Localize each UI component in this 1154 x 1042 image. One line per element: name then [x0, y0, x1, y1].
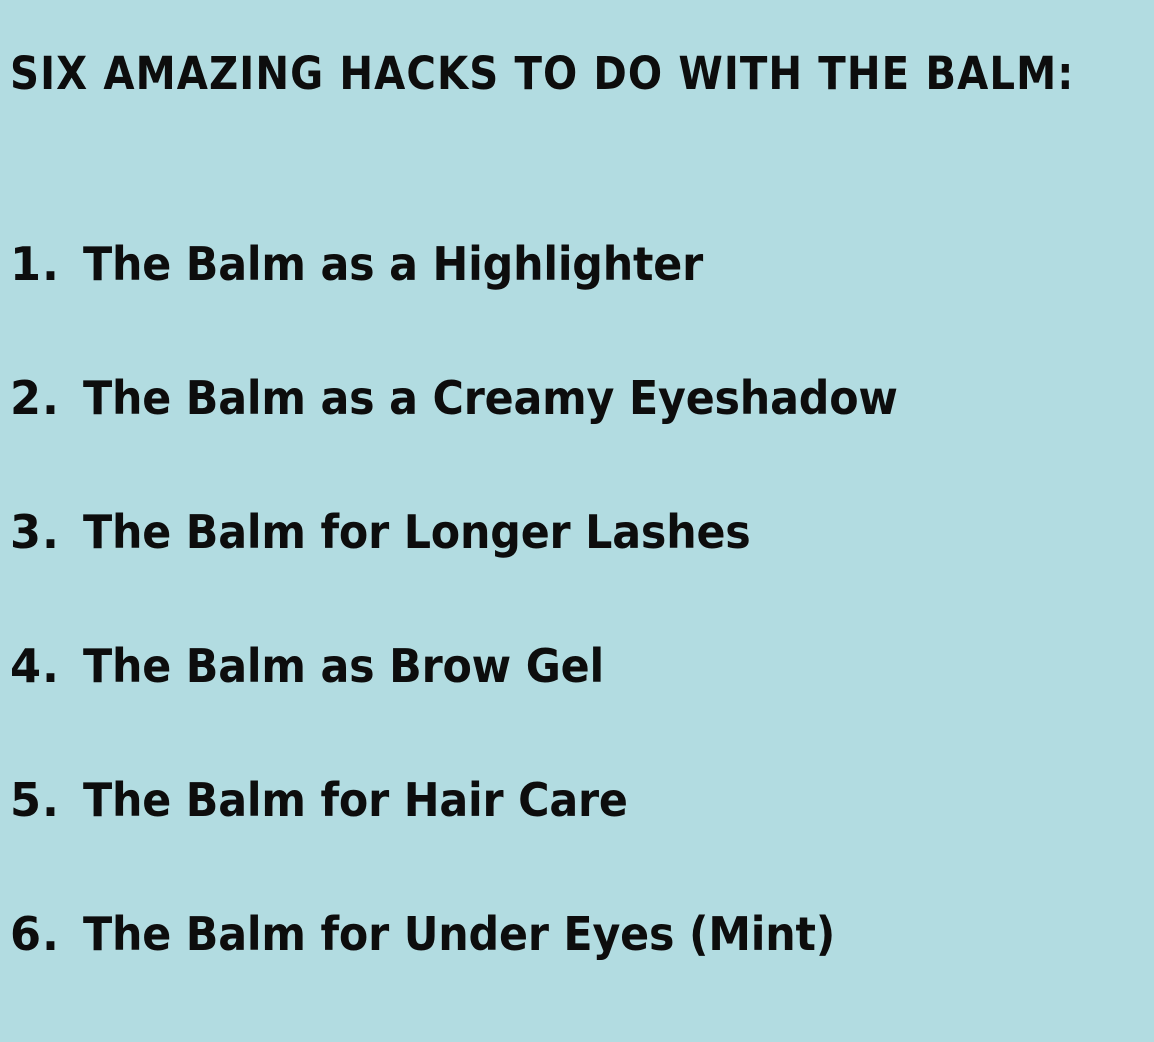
list-item-label: The Balm as Brow Gel — [83, 643, 604, 689]
list-item: 4. The Balm as Brow Gel — [10, 631, 644, 701]
list-item: 1. The Balm as a Highlighter — [10, 229, 750, 299]
list-item-label: The Balm for Under Eyes (Mint) — [83, 911, 835, 957]
list-item: 5. The Balm for Hair Care — [10, 765, 669, 835]
list-item: 6. The Balm for Under Eyes (Mint) — [10, 899, 892, 969]
list-item-label: The Balm as a Creamy Eyeshadow — [83, 375, 898, 421]
list-item-number: 5. — [10, 777, 60, 823]
list-item-number: 3. — [10, 509, 60, 555]
list-item-label: The Balm as a Highlighter — [83, 241, 703, 287]
list-item-number: 4. — [10, 643, 60, 689]
list-item-number: 6. — [10, 911, 60, 957]
list-item-label: The Balm for Longer Lashes — [83, 509, 751, 555]
hack-list: 1. The Balm as a Highlighter 2. The Balm… — [0, 0, 1154, 1042]
list-item-number: 1. — [10, 241, 60, 287]
list-item-number: 2. — [10, 375, 60, 421]
list-item: 2. The Balm as a Creamy Eyeshadow — [10, 363, 960, 433]
list-item: 3. The Balm for Longer Lashes — [10, 497, 801, 567]
list-item-label: The Balm for Hair Care — [83, 777, 628, 823]
poster-canvas: SIX AMAZING HACKS TO DO WITH THE BALM: 1… — [0, 0, 1154, 1042]
